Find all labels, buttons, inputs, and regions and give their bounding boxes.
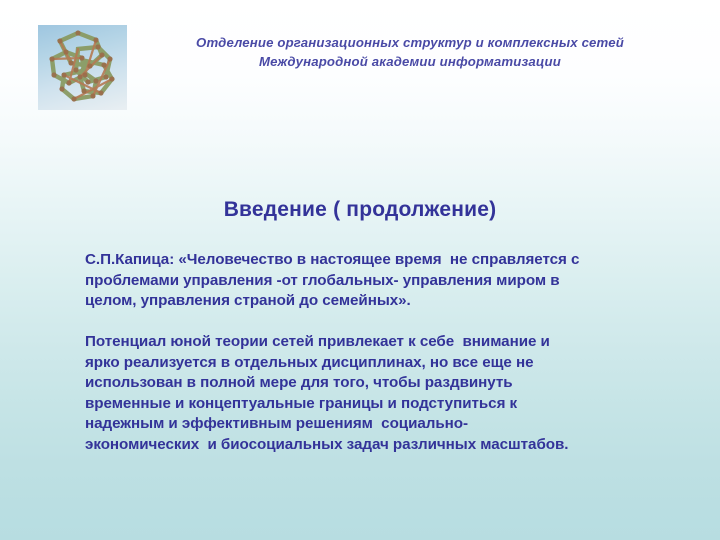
body-line: использован в полной мере для того, чтоб… (85, 373, 665, 394)
organization-title: Отделение организационных структур и ком… (150, 33, 670, 71)
organization-title-line-2: Международной академии информатизации (150, 52, 670, 71)
body-line: экономических и биосоциальных задач разл… (85, 435, 665, 456)
network-structure-logo-icon (38, 25, 127, 110)
body-paragraph-1: С.П.Капица: «Человечество в настоящее вр… (85, 250, 665, 312)
organization-title-line-1: Отделение организационных структур и ком… (196, 35, 624, 50)
body-line: проблемами управления -от глобальных- уп… (85, 271, 665, 292)
body-line: С.П.Капица: «Человечество в настоящее вр… (85, 250, 665, 271)
presentation-slide: Отделение организационных структур и ком… (0, 0, 720, 540)
body-line: надежным и эффективным решениям социальн… (85, 414, 665, 435)
body-line: Потенциал юной теории сетей привлекает к… (85, 332, 665, 353)
slide-body: С.П.Капица: «Человечество в настоящее вр… (85, 250, 665, 455)
slide-title: Введение ( продолжение) (60, 198, 660, 222)
slide-header: Отделение организационных структур и ком… (0, 0, 720, 132)
body-paragraph-2: Потенциал юной теории сетей привлекает к… (85, 332, 665, 455)
body-line: временные и концептуальные границы и под… (85, 394, 665, 415)
body-line: ярко реализуется в отдельных дисциплинах… (85, 353, 665, 374)
body-line: целом, управления страной до семейных». (85, 291, 665, 312)
